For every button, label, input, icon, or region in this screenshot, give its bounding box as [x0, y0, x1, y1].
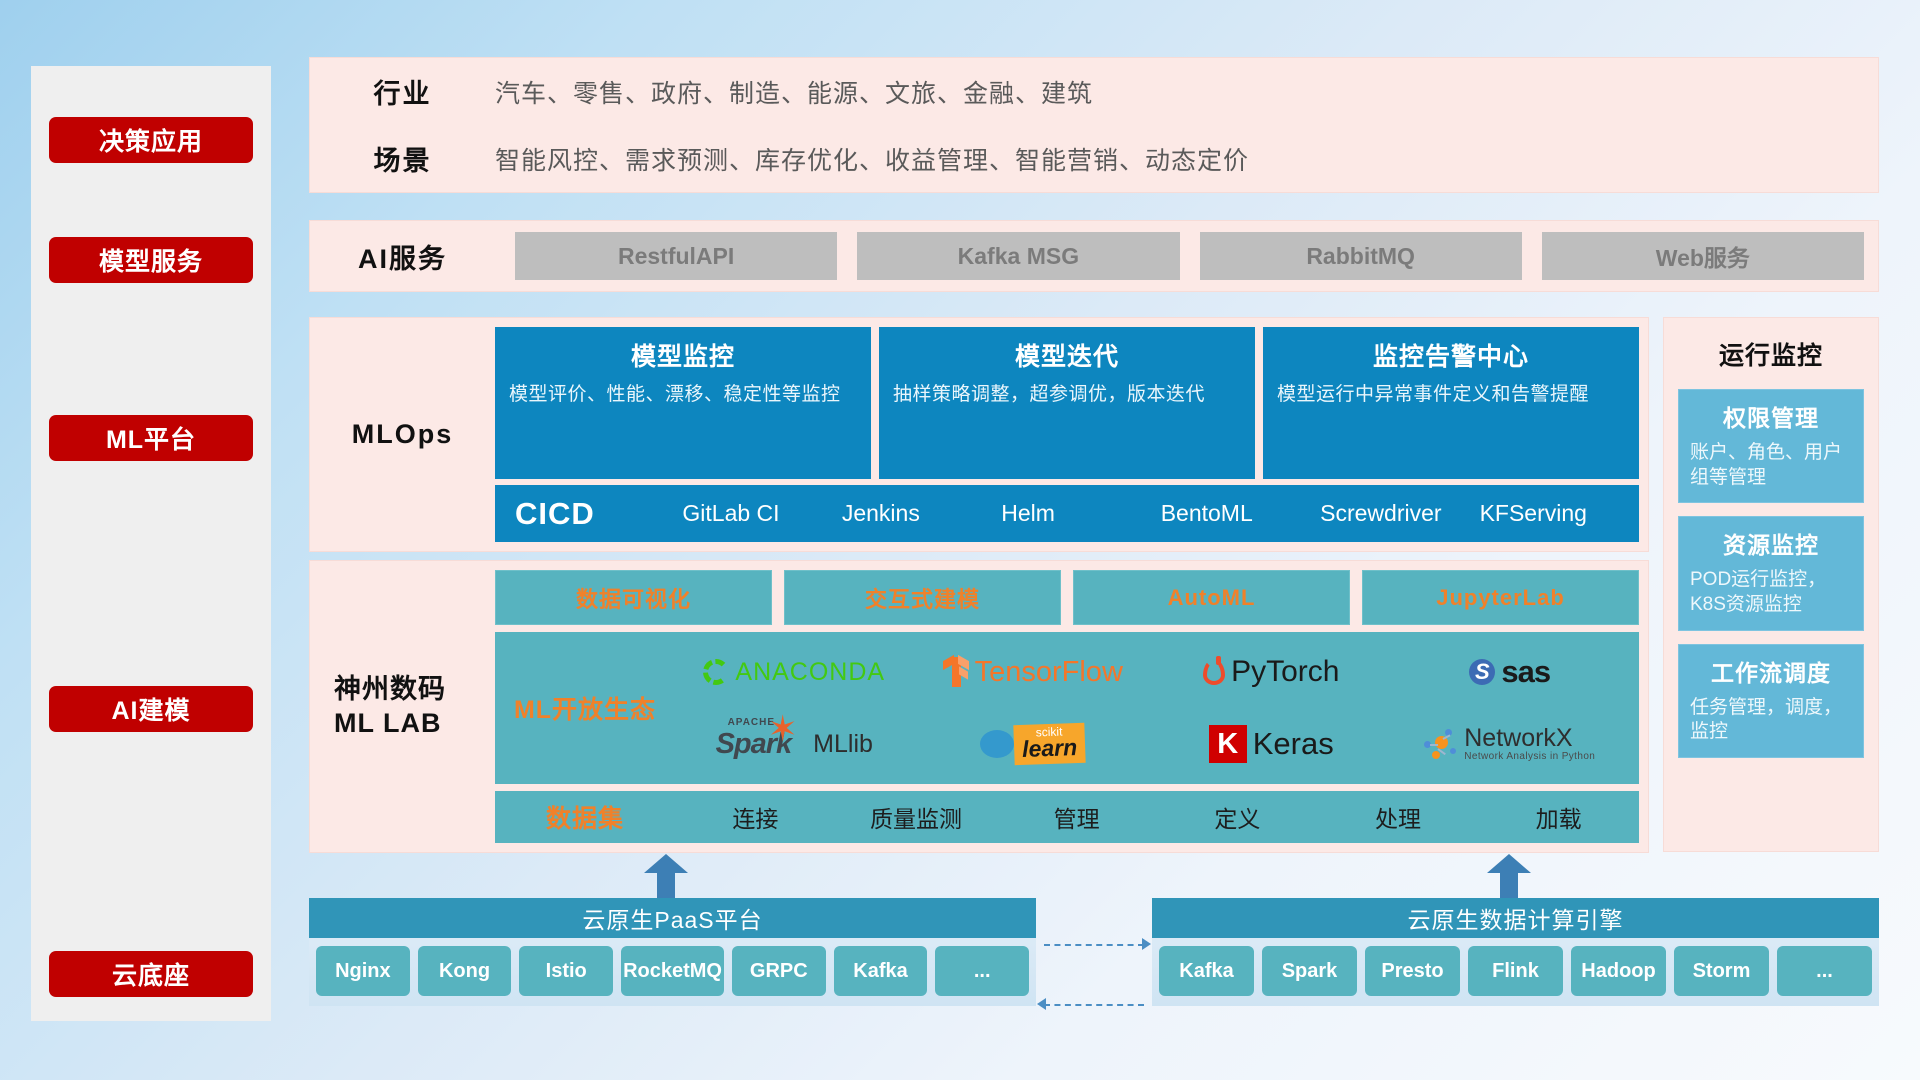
cicd-item-jenkins[interactable]: Jenkins	[842, 501, 946, 525]
cicd-item-screwdriver[interactable]: Screwdriver	[1320, 501, 1424, 525]
service-pill-kafka-msg[interactable]: Kafka MSG	[857, 232, 1179, 280]
dataset-item-connect[interactable]: 连接	[675, 800, 836, 834]
monitor-card-resource[interactable]: 资源监控 POD运行监控，K8S资源监控	[1678, 516, 1864, 630]
card-desc: 账户、角色、用户组等管理	[1690, 441, 1852, 490]
paas-chip-grpc[interactable]: GRPC	[732, 946, 826, 996]
arrow-up-data-engine-icon	[1487, 854, 1531, 898]
ai-service-band: AI服务 RestfulAPI Kafka MSG RabbitMQ Web服务	[309, 220, 1879, 292]
service-pill-label: RabbitMQ	[1306, 243, 1415, 270]
rail-item-cloud-base[interactable]: 云底座	[49, 951, 253, 997]
card-title: 资源监控	[1690, 526, 1852, 560]
mlops-card-model-iteration[interactable]: 模型迭代 抽样策略调整，超参调优，版本迭代	[879, 327, 1255, 479]
data-engine-chip-storm[interactable]: Storm	[1674, 946, 1769, 996]
lab-tool-jupyterlab[interactable]: JupyterLab	[1362, 570, 1639, 625]
rail-item-label: AI建模	[111, 691, 190, 727]
rail-item-ml-platform[interactable]: ML平台	[49, 415, 253, 461]
data-engine-chip-hadoop[interactable]: Hadoop	[1571, 946, 1666, 996]
data-engine-chip-row: Kafka Spark Presto Flink Hadoop Storm ..…	[1152, 938, 1879, 1006]
service-pill-label: RestfulAPI	[618, 243, 734, 270]
layer-rail: 决策应用 模型服务 ML平台 AI建模 云底座	[31, 66, 271, 1021]
keras-logo: K Keras	[1209, 725, 1334, 763]
lab-tool-interactive-modeling[interactable]: 交互式建模	[784, 570, 1061, 625]
runtime-monitor-panel: 运行监控 权限管理 账户、角色、用户组等管理 资源监控 POD运行监控，K8S资…	[1663, 317, 1879, 852]
data-engine-stack-title: 云原生数据计算引擎	[1152, 898, 1879, 938]
card-desc: 抽样策略调整，超参调优，版本迭代	[893, 382, 1241, 407]
cicd-item-bentoml[interactable]: BentoML	[1161, 501, 1265, 525]
networkx-tagline: Network Analysis in Python	[1464, 752, 1595, 762]
pytorch-flame-icon	[1203, 659, 1225, 685]
rail-item-label: 决策应用	[99, 122, 203, 158]
mlops-label: MLOps	[310, 318, 495, 551]
lab-tool-data-visualization[interactable]: 数据可视化	[495, 570, 772, 625]
card-title: 监控告警中心	[1373, 337, 1529, 373]
mlops-band: MLOps 模型监控 模型评价、性能、漂移、稳定性等监控 模型迭代 抽样策略调整…	[309, 317, 1649, 552]
card-desc: 模型运行中异常事件定义和告警提醒	[1277, 382, 1625, 407]
scikit-learn-logo: scikit learn	[980, 724, 1085, 764]
arrow-head-right-icon	[1142, 938, 1151, 950]
card-desc: POD运行监控，K8S资源监控	[1690, 568, 1852, 617]
cicd-item-gitlab-ci[interactable]: GitLab CI	[682, 501, 786, 525]
service-pill-restfulapi[interactable]: RestfulAPI	[515, 232, 837, 280]
tensorflow-mark-icon	[943, 657, 969, 687]
paas-chip-istio[interactable]: Istio	[519, 946, 613, 996]
pytorch-logo: PyTorch	[1203, 655, 1339, 689]
cicd-item-helm[interactable]: Helm	[1001, 501, 1105, 525]
ml-lab-band: 神州数码 ML LAB 数据可视化 交互式建模 AutoML JupyterLa…	[309, 560, 1649, 853]
card-desc: 任务管理，调度，监控	[1690, 696, 1852, 745]
service-pill-web-service[interactable]: Web服务	[1542, 232, 1864, 280]
sas-logo: S sas	[1469, 654, 1550, 690]
cicd-item-kfserving[interactable]: KFServing	[1480, 501, 1584, 525]
keras-logo-text: Keras	[1253, 726, 1334, 762]
rail-item-label: ML平台	[106, 420, 196, 456]
tool-label: 数据可视化	[576, 582, 691, 614]
industry-row-label: 行业	[310, 72, 495, 111]
card-title: 工作流调度	[1690, 654, 1852, 688]
ecosystem-label: ML开放生态	[495, 690, 675, 726]
cicd-title: CICD	[515, 496, 682, 532]
mllib-label: MLlib	[813, 730, 873, 759]
ml-open-ecosystem-row: ML开放生态 ANACONDA TensorFlow PyTorch	[495, 632, 1639, 784]
scenario-row-text: 智能风控、需求预测、库存优化、收益管理、智能营销、动态定价	[495, 141, 1878, 177]
rail-item-model-service[interactable]: 模型服务	[49, 237, 253, 283]
ml-lab-label: 神州数码 ML LAB	[310, 561, 495, 852]
cicd-strip: CICD GitLab CI Jenkins Helm BentoML Scre…	[495, 485, 1639, 542]
rail-item-label: 云底座	[112, 956, 190, 992]
anaconda-logo-text: ANACONDA	[735, 658, 885, 687]
data-engine-chip-flink[interactable]: Flink	[1468, 946, 1563, 996]
connector-data-to-paas	[1044, 1004, 1144, 1006]
dataset-label: 数据集	[495, 799, 675, 835]
sas-swoosh-icon: S	[1469, 659, 1495, 685]
paas-chip-kafka[interactable]: Kafka	[834, 946, 928, 996]
cloud-native-paas-stack: 云原生PaaS平台 Nginx Kong Istio RocketMQ GRPC…	[309, 898, 1036, 1006]
tool-label: 交互式建模	[865, 582, 980, 614]
paas-chip-nginx[interactable]: Nginx	[316, 946, 410, 996]
dataset-item-quality-monitor[interactable]: 质量监测	[836, 800, 997, 834]
arrow-up-paas-icon	[644, 854, 688, 898]
networkx-logo-text: NetworkX	[1464, 724, 1572, 752]
scenario-row-label: 场景	[310, 139, 495, 178]
anaconda-ring-icon	[703, 659, 729, 685]
dataset-item-process[interactable]: 处理	[1318, 800, 1479, 834]
scikit-learn-wordmark: scikit learn	[1014, 723, 1086, 765]
decision-apps-band: 行业 汽车、零售、政府、制造、能源、文旅、金融、建筑 场景 智能风控、需求预测、…	[309, 57, 1879, 193]
data-engine-chip-presto[interactable]: Presto	[1365, 946, 1460, 996]
scikit-blob-icon	[980, 730, 1014, 758]
service-pill-label: Kafka MSG	[958, 243, 1079, 270]
learn-label: learn	[1022, 736, 1078, 761]
ecosystem-logo-grid: ANACONDA TensorFlow PyTorch S sas	[675, 632, 1639, 784]
pytorch-logo-text: PyTorch	[1231, 655, 1339, 689]
anaconda-logo: ANACONDA	[703, 658, 885, 687]
ml-lab-label-line2: ML LAB	[334, 707, 495, 741]
monitor-panel-title: 运行监控	[1678, 336, 1864, 372]
spark-star-icon: ✶	[768, 711, 797, 747]
networkx-graph-icon	[1424, 729, 1458, 759]
data-engine-chip-more[interactable]: ...	[1777, 946, 1872, 996]
card-title: 模型监控	[631, 337, 735, 373]
lab-tool-automl[interactable]: AutoML	[1073, 570, 1350, 625]
tool-label: JupyterLab	[1436, 585, 1565, 611]
spark-mllib-logo: APACHE ✶ Spark MLlib	[716, 728, 873, 761]
industry-row-text: 汽车、零售、政府、制造、能源、文旅、金融、建筑	[495, 74, 1878, 110]
ai-service-label: AI服务	[310, 237, 495, 276]
networkx-logo: NetworkX Network Analysis in Python	[1424, 726, 1595, 762]
rail-item-ai-modeling[interactable]: AI建模	[49, 686, 253, 732]
dataset-item-define[interactable]: 定义	[1157, 800, 1318, 834]
monitor-card-workflow[interactable]: 工作流调度 任务管理，调度，监控	[1678, 644, 1864, 758]
paas-chip-kong[interactable]: Kong	[418, 946, 512, 996]
service-pill-rabbitmq[interactable]: RabbitMQ	[1200, 232, 1522, 280]
service-pill-label: Web服务	[1656, 239, 1750, 273]
card-desc: 模型评价、性能、漂移、稳定性等监控	[509, 382, 857, 407]
dataset-item-load[interactable]: 加载	[1478, 800, 1639, 834]
tensorflow-logo-text: TensorFlow	[975, 656, 1123, 689]
networkx-wordmark: NetworkX Network Analysis in Python	[1464, 726, 1595, 762]
connector-paas-to-data	[1044, 944, 1144, 946]
monitor-card-permission[interactable]: 权限管理 账户、角色、用户组等管理	[1678, 389, 1864, 503]
paas-chip-row: Nginx Kong Istio RocketMQ GRPC Kafka ...	[309, 938, 1036, 1006]
lab-tools-row: 数据可视化 交互式建模 AutoML JupyterLab	[495, 570, 1639, 625]
data-engine-chip-spark[interactable]: Spark	[1262, 946, 1357, 996]
data-engine-chip-kafka[interactable]: Kafka	[1159, 946, 1254, 996]
spark-logo-text: APACHE ✶ Spark	[716, 728, 792, 761]
card-title: 模型迭代	[1015, 337, 1119, 373]
tensorflow-logo: TensorFlow	[943, 656, 1123, 689]
mlops-card-model-monitoring[interactable]: 模型监控 模型评价、性能、漂移、稳定性等监控	[495, 327, 871, 479]
mlops-card-alert-center[interactable]: 监控告警中心 模型运行中异常事件定义和告警提醒	[1263, 327, 1639, 479]
paas-chip-more[interactable]: ...	[935, 946, 1029, 996]
tool-label: AutoML	[1168, 585, 1256, 611]
arrow-head-left-icon	[1037, 998, 1046, 1010]
dataset-row: 数据集 连接 质量监测 管理 定义 处理 加载	[495, 791, 1639, 843]
keras-k-icon: K	[1209, 725, 1247, 763]
cloud-native-data-engine-stack: 云原生数据计算引擎 Kafka Spark Presto Flink Hadoo…	[1152, 898, 1879, 1006]
dataset-item-manage[interactable]: 管理	[996, 800, 1157, 834]
rail-item-label: 模型服务	[99, 242, 203, 278]
sas-logo-text: sas	[1501, 654, 1550, 690]
rail-item-decision-apps[interactable]: 决策应用	[49, 117, 253, 163]
paas-stack-title: 云原生PaaS平台	[309, 898, 1036, 938]
paas-chip-rocketmq[interactable]: RocketMQ	[621, 946, 724, 996]
card-title: 权限管理	[1690, 399, 1852, 433]
ml-lab-label-line1: 神州数码	[334, 673, 495, 707]
